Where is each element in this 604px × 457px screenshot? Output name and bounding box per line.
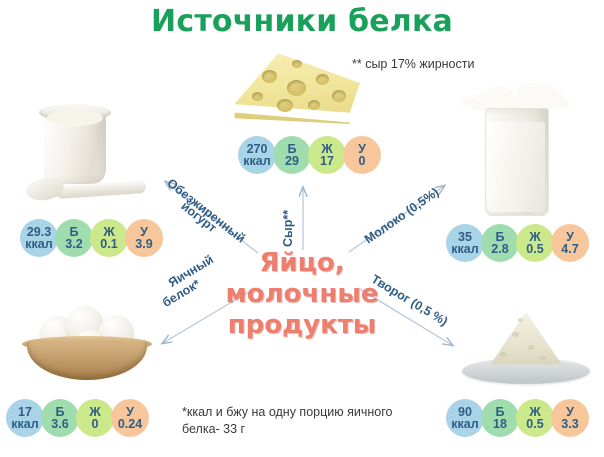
badge-kcal-unit: ккал (451, 243, 478, 256)
badge-carb-value: 3.3 (561, 418, 578, 431)
badge-fat-value: 17 (320, 155, 334, 168)
badge-kcal: 35 ккал (446, 224, 484, 262)
footnote: *ккал и бжу на одну порцию яичного белка… (182, 404, 397, 438)
nutrition-badges-egg-white: 17 ккал Б 3.6 Ж 0 У 0.24 (6, 399, 146, 437)
badge-fat: Ж 0.5 (516, 399, 554, 437)
badge-protein-value: 3.2 (65, 238, 82, 251)
badge-carb-value: 3.9 (135, 238, 152, 251)
badge-carb: У 3.3 (551, 399, 589, 437)
badge-carb-value: 4.7 (561, 243, 578, 256)
center-line-2: молочные (202, 279, 402, 310)
badge-carb: У 4.7 (551, 224, 589, 262)
badge-carb: У 0 (343, 136, 381, 174)
badge-fat: Ж 0 (76, 399, 114, 437)
badge-kcal: 17 ккал (6, 399, 44, 437)
infographic-canvas: Источники белка ** сыр 17% жирности (0, 0, 604, 457)
badge-fat: Ж 0.1 (90, 219, 128, 257)
badge-fat-value: 0.5 (526, 243, 543, 256)
badge-kcal: 29.3 ккал (20, 219, 58, 257)
badge-carb-value: 0 (359, 155, 366, 168)
center-line-1: Яйцо, (202, 248, 402, 279)
badge-fat-value: 0 (92, 418, 99, 431)
badge-protein: Б 18 (481, 399, 519, 437)
badge-carb: У 3.9 (125, 219, 163, 257)
arrow-label-cheese: Сыр** (281, 210, 295, 247)
nutrition-badges-milk: 35 ккал Б 2.8 Ж 0.5 У 4.7 (446, 224, 586, 262)
badge-protein-value: 29 (285, 155, 299, 168)
badge-fat: Ж 17 (308, 136, 346, 174)
badge-kcal-unit: ккал (243, 155, 270, 168)
badge-carb-value: 0.24 (118, 418, 142, 431)
badge-fat-value: 0.1 (100, 238, 117, 251)
badge-protein-value: 18 (493, 418, 507, 431)
center-line-3: продукты (202, 310, 402, 341)
nutrition-badges-cottage-cheese: 90 ккал Б 18 Ж 0.5 У 3.3 (446, 399, 586, 437)
badge-protein-value: 2.8 (491, 243, 508, 256)
badge-fat: Ж 0.5 (516, 224, 554, 262)
badge-protein-value: 3.6 (51, 418, 68, 431)
badge-carb: У 0.24 (111, 399, 149, 437)
badge-protein: Б 3.6 (41, 399, 79, 437)
badge-kcal: 90 ккал (446, 399, 484, 437)
badge-kcal-unit: ккал (25, 238, 52, 251)
badge-kcal-unit: ккал (451, 418, 478, 431)
badge-protein: Б 29 (273, 136, 311, 174)
badge-protein: Б 2.8 (481, 224, 519, 262)
center-title: Яйцо, молочные продукты (202, 248, 402, 341)
nutrition-badges-cheese: 270 ккал Б 29 Ж 17 У 0 (238, 136, 378, 174)
badge-protein: Б 3.2 (55, 219, 93, 257)
badge-kcal-unit: ккал (11, 418, 38, 431)
badge-fat-value: 0.5 (526, 418, 543, 431)
nutrition-badges-yogurt: 29.3 ккал Б 3.2 Ж 0.1 У 3.9 (20, 219, 160, 257)
badge-kcal: 270 ккал (238, 136, 276, 174)
